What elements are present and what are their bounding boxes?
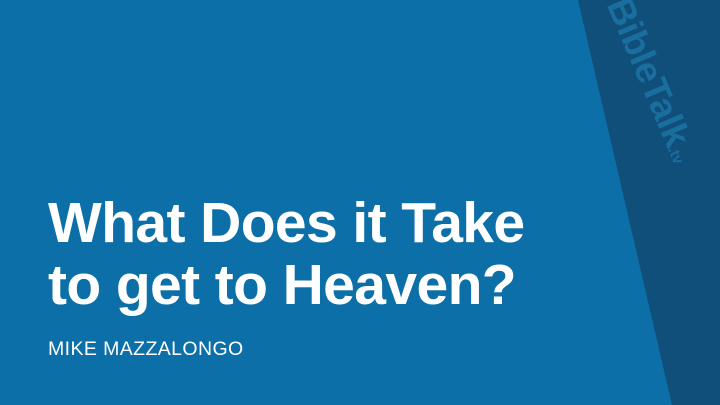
presenter-name: MIKE MAZZALONGO (48, 316, 648, 361)
page-title: What Does it Take to get to Heaven? (48, 192, 648, 316)
title-slide: BibleTalk.tv What Does it Take to get to… (0, 0, 720, 405)
title-text-block: What Does it Take to get to Heaven? MIKE… (48, 192, 648, 361)
